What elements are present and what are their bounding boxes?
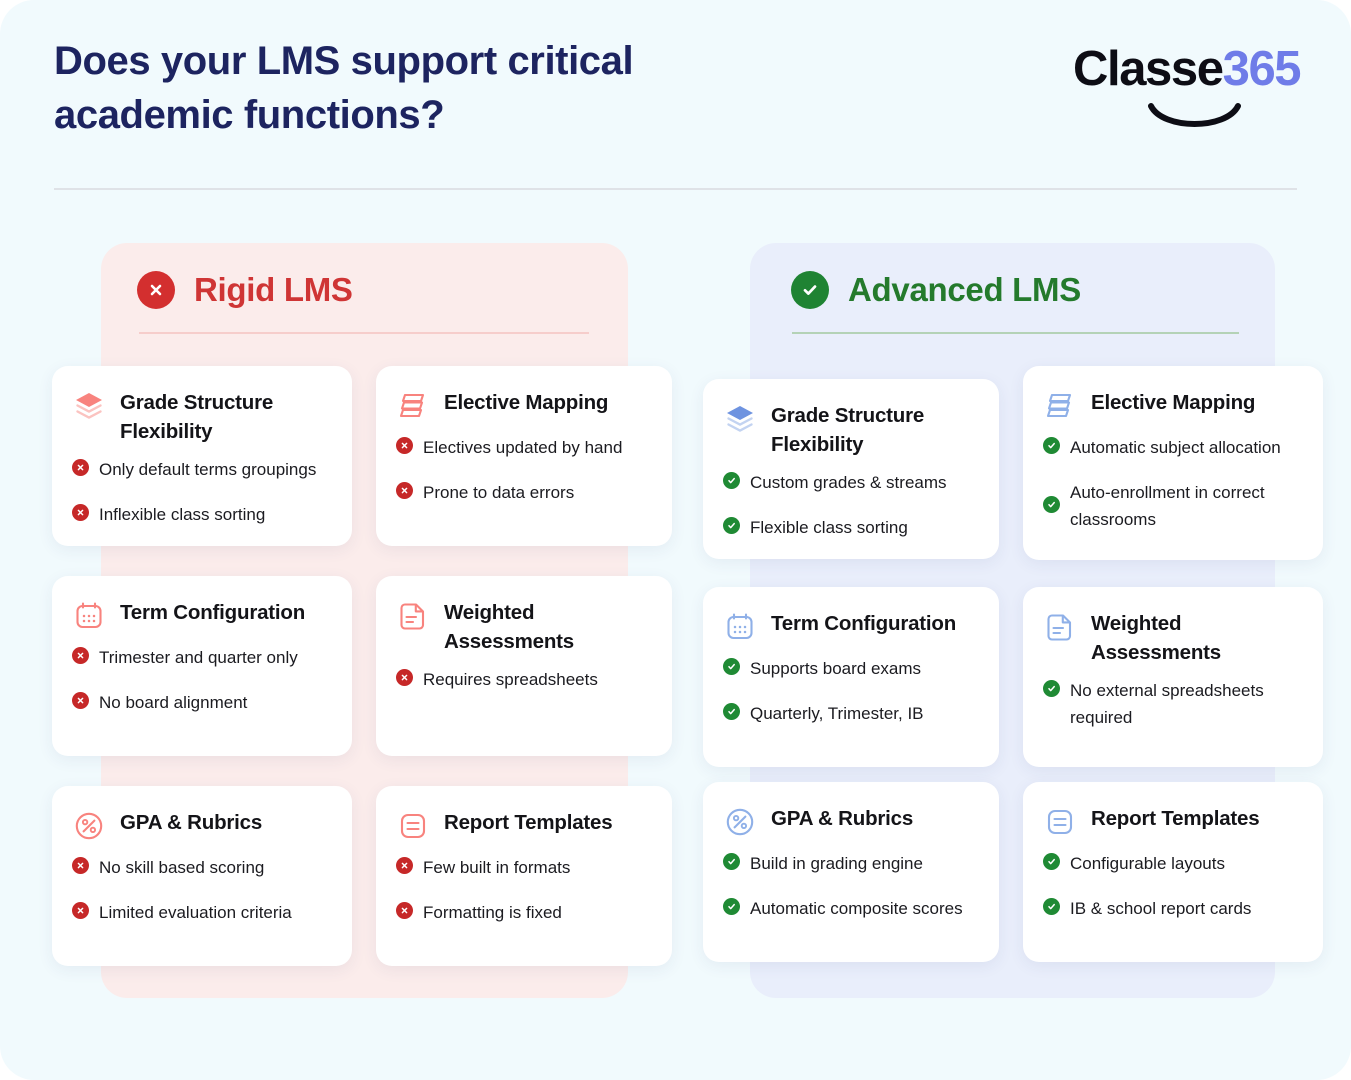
circle-x-icon <box>396 669 413 686</box>
document-icon <box>1043 609 1077 645</box>
card-title: Term Configuration <box>771 609 956 638</box>
card-bullets: Few built in formats Formatting is fixed <box>396 854 651 926</box>
circle-check-icon <box>1043 496 1060 513</box>
list-item: Formatting is fixed <box>396 899 651 926</box>
calendar-icon <box>72 598 106 634</box>
card-header: Grade Structure Flexibility <box>723 401 978 459</box>
card-bullets: Electives updated by hand Prone to data … <box>396 434 651 506</box>
card-header: GPA & Rubrics <box>72 808 331 844</box>
bullet-text: Formatting is fixed <box>423 899 562 926</box>
bullet-text: Custom grades & streams <box>750 469 947 496</box>
list-item: No skill based scoring <box>72 854 331 881</box>
list-item: Limited evaluation criteria <box>72 899 331 926</box>
bullet-text: Limited evaluation criteria <box>99 899 292 926</box>
card-bullets: Configurable layouts IB & school report … <box>1043 850 1302 922</box>
list-item: Auto-enrollment in correct classrooms <box>1043 479 1302 533</box>
bullet-text: Only default terms groupings <box>99 456 316 483</box>
circle-check-icon <box>791 271 829 309</box>
logo-word-dark: Classe <box>1073 42 1223 96</box>
card-header: Report Templates <box>1043 804 1302 840</box>
percent-circle-icon <box>723 804 757 840</box>
panel-rule-advanced <box>792 332 1239 334</box>
card-header: Term Configuration <box>72 598 331 634</box>
list-item: Automatic composite scores <box>723 895 978 922</box>
circle-check-icon <box>1043 437 1060 454</box>
bullet-text: IB & school report cards <box>1070 895 1251 922</box>
report-lines-icon <box>396 808 430 844</box>
circle-x-icon <box>396 437 413 454</box>
card-bullets: Automatic subject allocation Auto-enroll… <box>1043 434 1302 533</box>
circle-x-icon <box>72 459 89 476</box>
bullet-text: Automatic composite scores <box>750 895 963 922</box>
bullet-text: Build in grading engine <box>750 850 923 877</box>
circle-x-icon <box>137 271 175 309</box>
page-title: Does your LMS support critical academic … <box>54 34 794 142</box>
list-item: Configurable layouts <box>1043 850 1302 877</box>
card-header: Grade Structure Flexibility <box>72 388 331 446</box>
report-lines-icon <box>1043 804 1077 840</box>
bullet-text: Inflexible class sorting <box>99 501 265 528</box>
card-bullets: Requires spreadsheets <box>396 666 651 693</box>
stacked-slabs-icon <box>396 388 430 424</box>
card-bullets: No skill based scoring Limited evaluatio… <box>72 854 331 926</box>
panel-header-rigid: Rigid LMS <box>137 271 353 309</box>
card-bullets: Custom grades & streams Flexible class s… <box>723 469 978 541</box>
card-bullets: Build in grading engine Automatic compos… <box>723 850 978 922</box>
circle-check-icon <box>1043 898 1060 915</box>
circle-check-icon <box>723 703 740 720</box>
list-item: IB & school report cards <box>1043 895 1302 922</box>
card-title: GPA & Rubrics <box>120 808 262 837</box>
circle-x-icon <box>72 647 89 664</box>
bullet-text: No external spreadsheets required <box>1070 677 1302 731</box>
card-report-templates-rigid[interactable]: Report Templates Few built in formats Fo… <box>376 786 672 966</box>
circle-check-icon <box>723 898 740 915</box>
card-title: Grade Structure Flexibility <box>771 401 978 459</box>
card-term-configuration-advanced[interactable]: Term Configuration Supports board exams … <box>703 587 999 767</box>
card-header: Weighted Assessments <box>396 598 651 656</box>
card-elective-mapping-advanced[interactable]: Elective Mapping Automatic subject alloc… <box>1023 366 1323 560</box>
card-title: Report Templates <box>1091 804 1259 833</box>
list-item: Trimester and quarter only <box>72 644 331 671</box>
percent-circle-icon <box>72 808 106 844</box>
list-item: Only default terms groupings <box>72 456 331 483</box>
circle-x-icon <box>72 902 89 919</box>
bullet-text: Requires spreadsheets <box>423 666 598 693</box>
list-item: Flexible class sorting <box>723 514 978 541</box>
card-bullets: Trimester and quarter only No board alig… <box>72 644 331 716</box>
card-weighted-assessments-rigid[interactable]: Weighted Assessments Requires spreadshee… <box>376 576 672 756</box>
list-item: Automatic subject allocation <box>1043 434 1302 461</box>
card-weighted-assessments-advanced[interactable]: Weighted Assessments No external spreads… <box>1023 587 1323 767</box>
card-header: Weighted Assessments <box>1043 609 1302 667</box>
bullet-text: No board alignment <box>99 689 247 716</box>
list-item: Few built in formats <box>396 854 651 881</box>
circle-x-icon <box>396 482 413 499</box>
card-elective-mapping-rigid[interactable]: Elective Mapping Electives updated by ha… <box>376 366 672 546</box>
panel-header-advanced: Advanced LMS <box>791 271 1081 309</box>
card-gpa-rubrics-advanced[interactable]: GPA & Rubrics Build in grading engine Au… <box>703 782 999 962</box>
card-title: Weighted Assessments <box>1091 609 1302 667</box>
bullet-text: Auto-enrollment in correct classrooms <box>1070 479 1302 533</box>
card-header: Report Templates <box>396 808 651 844</box>
logo-wordmark: Classe365 <box>1073 45 1288 94</box>
list-item: Supports board exams <box>723 655 978 682</box>
list-item: Custom grades & streams <box>723 469 978 496</box>
panel-rule-rigid <box>139 332 589 334</box>
circle-check-icon <box>723 517 740 534</box>
bullet-text: Automatic subject allocation <box>1070 434 1281 461</box>
card-report-templates-advanced[interactable]: Report Templates Configurable layouts IB… <box>1023 782 1323 962</box>
list-item: No board alignment <box>72 689 331 716</box>
card-title: Report Templates <box>444 808 612 837</box>
card-grade-structure-advanced[interactable]: Grade Structure Flexibility Custom grade… <box>703 379 999 559</box>
list-item: Build in grading engine <box>723 850 978 877</box>
circle-x-icon <box>72 504 89 521</box>
card-term-configuration-rigid[interactable]: Term Configuration Trimester and quarter… <box>52 576 352 756</box>
card-title: Term Configuration <box>120 598 305 627</box>
card-gpa-rubrics-rigid[interactable]: GPA & Rubrics No skill based scoring Lim… <box>52 786 352 966</box>
card-title: GPA & Rubrics <box>771 804 913 833</box>
bullet-text: No skill based scoring <box>99 854 264 881</box>
infographic-page: Does your LMS support critical academic … <box>0 0 1351 1080</box>
circle-check-icon <box>723 472 740 489</box>
card-grade-structure-rigid[interactable]: Grade Structure Flexibility Only default… <box>52 366 352 546</box>
card-header: GPA & Rubrics <box>723 804 978 840</box>
card-bullets: No external spreadsheets required <box>1043 677 1302 731</box>
list-item: Inflexible class sorting <box>72 501 331 528</box>
stacked-slabs-icon <box>1043 388 1077 424</box>
list-item: Requires spreadsheets <box>396 666 651 693</box>
card-header: Elective Mapping <box>1043 388 1302 424</box>
card-title: Elective Mapping <box>1091 388 1255 417</box>
list-item: Electives updated by hand <box>396 434 651 461</box>
bullet-text: Quarterly, Trimester, IB <box>750 700 924 727</box>
header: Does your LMS support critical academic … <box>54 34 1297 189</box>
card-title: Grade Structure Flexibility <box>120 388 331 446</box>
circle-check-icon <box>723 853 740 870</box>
bullet-text: Configurable layouts <box>1070 850 1225 877</box>
circle-x-icon <box>396 857 413 874</box>
card-title: Weighted Assessments <box>444 598 651 656</box>
card-title: Elective Mapping <box>444 388 608 417</box>
circle-check-icon <box>723 658 740 675</box>
calendar-icon <box>723 609 757 645</box>
bullet-text: Flexible class sorting <box>750 514 908 541</box>
logo-word-accent: 365 <box>1223 42 1301 96</box>
layers-icon <box>723 401 757 437</box>
circle-x-icon <box>72 692 89 709</box>
document-icon <box>396 598 430 634</box>
layers-icon <box>72 388 106 424</box>
list-item: Prone to data errors <box>396 479 651 506</box>
panel-title-advanced: Advanced LMS <box>848 271 1081 309</box>
circle-x-icon <box>396 902 413 919</box>
bullet-text: Trimester and quarter only <box>99 644 298 671</box>
bullet-text: Supports board exams <box>750 655 921 682</box>
bullet-text: Prone to data errors <box>423 479 574 506</box>
card-header: Term Configuration <box>723 609 978 645</box>
list-item: No external spreadsheets required <box>1043 677 1302 731</box>
smile-icon <box>1147 102 1242 134</box>
circle-x-icon <box>72 857 89 874</box>
circle-check-icon <box>1043 680 1060 697</box>
list-item: Quarterly, Trimester, IB <box>723 700 978 727</box>
bullet-text: Few built in formats <box>423 854 570 881</box>
bullet-text: Electives updated by hand <box>423 434 622 461</box>
panel-title-rigid: Rigid LMS <box>194 271 353 309</box>
card-header: Elective Mapping <box>396 388 651 424</box>
header-divider <box>54 188 1297 190</box>
brand-logo: Classe365 <box>1073 45 1288 140</box>
circle-check-icon <box>1043 853 1060 870</box>
card-bullets: Only default terms groupings Inflexible … <box>72 456 331 528</box>
card-bullets: Supports board exams Quarterly, Trimeste… <box>723 655 978 727</box>
